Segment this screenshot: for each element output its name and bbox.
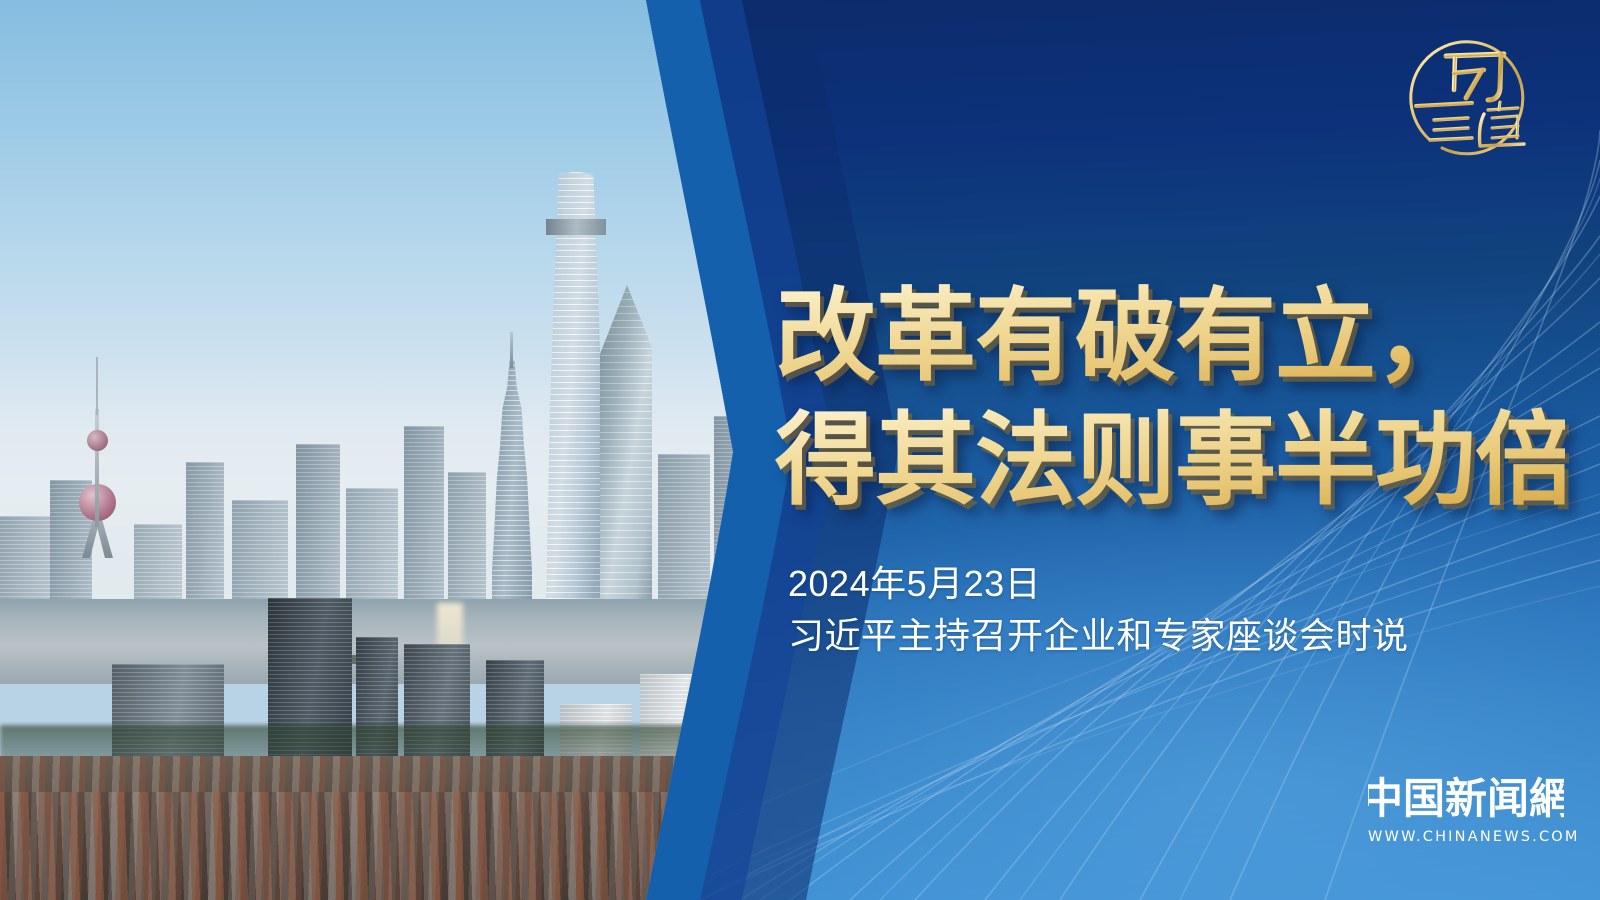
chinanews-url: WWW.CHINANEWS.COM (1368, 829, 1564, 845)
shanghai-skyline-photo (0, 0, 780, 900)
shanghai-world-financial-center (600, 285, 652, 630)
headline-line-1: 改革有破有立， (775, 272, 1565, 400)
subtitle-context: 习近平主持召开企业和专家座谈会时说 (788, 612, 1409, 660)
headline-line-2: 得其法则事半功倍 (775, 396, 1565, 524)
chinanews-brand: 中国新闻網 WWW.CHINANEWS.COM (1368, 772, 1568, 845)
subtitle-date: 2024年5月23日 (788, 562, 1409, 606)
svg-text:中国新闻網: 中国新闻網 (1368, 774, 1564, 823)
headline: 改革有破有立， 得其法则事半功倍 (775, 272, 1565, 524)
poster-canvas: 改革有破有立， 得其法则事半功倍 2024年5月23日 习近平主持召开企业和专家… (0, 0, 1600, 900)
chinanews-logo-icon: 中国新闻網 (1368, 772, 1568, 826)
xi-yan-dao-seal-icon (1400, 28, 1540, 168)
subtitle-block: 2024年5月23日 习近平主持召开企业和专家座谈会时说 (788, 562, 1409, 660)
